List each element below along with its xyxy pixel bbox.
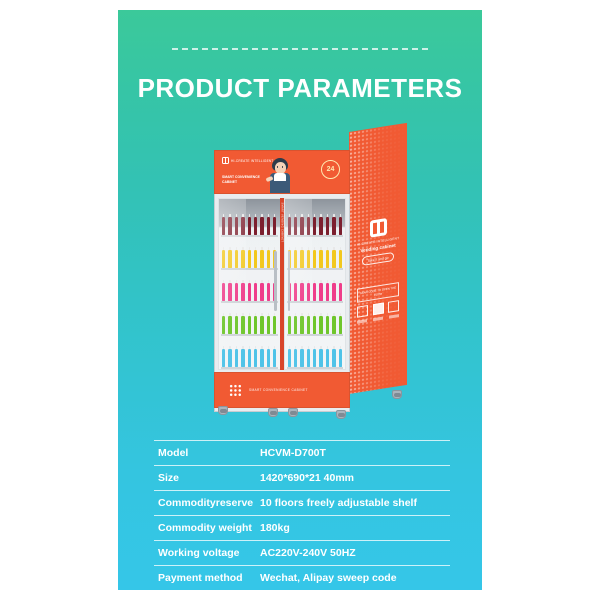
glass-door-right xyxy=(284,198,347,370)
glass-door-left xyxy=(218,198,281,370)
badge-24-hours: 24 xyxy=(321,160,340,179)
bottle xyxy=(332,283,335,301)
gradient-poster-panel: PRODUCT PARAMETERS HI-CREATE INTELLIGENT… xyxy=(118,10,482,590)
bottle xyxy=(228,217,231,235)
bottle-row xyxy=(222,213,277,235)
bottle xyxy=(222,217,225,235)
bottle xyxy=(307,250,310,268)
bottle xyxy=(300,349,303,367)
bottle xyxy=(307,217,310,235)
shelf-row xyxy=(221,277,278,303)
caster-wheel xyxy=(268,408,278,417)
shelf-row xyxy=(287,310,344,336)
center-strip-text: SMART VENDING CABINET xyxy=(281,203,284,225)
shelf-row xyxy=(287,343,344,369)
bottle xyxy=(273,349,276,367)
wechat-pay-icon xyxy=(373,302,384,315)
table-row: Model HCVM-D700T xyxy=(154,441,450,466)
bottle xyxy=(254,316,257,334)
shelf-row xyxy=(221,343,278,369)
center-divider-strip: SMART VENDING CABINET xyxy=(280,198,284,370)
bottle xyxy=(319,349,322,367)
door-handle-left[interactable] xyxy=(274,251,277,311)
shelf-row xyxy=(221,211,278,237)
bottle xyxy=(288,349,291,367)
bottle xyxy=(294,250,297,268)
bottle-row xyxy=(222,345,277,367)
cabinet-side-panel: HI-CREATE INTELLIGENT Vending cabinet Ta… xyxy=(349,123,407,394)
shelf-rail xyxy=(287,334,344,337)
bottle xyxy=(235,217,238,235)
bottle xyxy=(339,283,342,301)
bottle xyxy=(235,349,238,367)
bottle xyxy=(339,250,342,268)
bottle xyxy=(313,217,316,235)
bottle xyxy=(313,349,316,367)
spec-label: Commodityreserve xyxy=(154,497,260,509)
bottle xyxy=(339,316,342,334)
caster-wheel xyxy=(336,410,346,419)
page-title: PRODUCT PARAMETERS xyxy=(118,73,482,104)
side-panel-branding: HI-CREATE INTELLIGENT Vending cabinet Ta… xyxy=(353,215,403,267)
shelf-row xyxy=(287,244,344,270)
bottle xyxy=(241,316,244,334)
spec-value: Wechat, Alipay sweep code xyxy=(260,572,450,584)
mascot-shirt xyxy=(274,173,286,181)
shelf-rail xyxy=(287,367,344,370)
spec-value: HCVM-D700T xyxy=(260,447,450,459)
bottle xyxy=(254,217,257,235)
bottle xyxy=(326,283,329,301)
spec-label: Commodity weight xyxy=(154,522,260,534)
shelf-row xyxy=(287,277,344,303)
caster-wheel xyxy=(288,408,298,417)
bottle xyxy=(319,283,322,301)
shelf-row xyxy=(287,211,344,237)
side-payment-block: SCAN CODE TO OPEN THE DOOR xyxy=(357,282,399,323)
shelf-rail xyxy=(221,235,278,238)
bottle xyxy=(294,349,297,367)
bottle xyxy=(300,217,303,235)
bottle xyxy=(307,316,310,334)
shelf-rail xyxy=(221,268,278,271)
bottle xyxy=(300,316,303,334)
bottle xyxy=(313,316,316,334)
spec-value: 1420*690*21 40mm xyxy=(260,472,450,484)
spec-value: 180kg xyxy=(260,522,450,534)
bottle xyxy=(267,316,270,334)
shelf-rail xyxy=(287,235,344,238)
spec-label: Working voltage xyxy=(154,547,260,559)
bottle xyxy=(260,283,263,301)
spec-label: Payment method xyxy=(154,572,260,584)
bottle xyxy=(260,316,263,334)
bottle xyxy=(313,250,316,268)
shelf-rail xyxy=(287,301,344,304)
bottle xyxy=(248,283,251,301)
bottle xyxy=(248,316,251,334)
bottle xyxy=(267,250,270,268)
bottle xyxy=(222,250,225,268)
bottle xyxy=(228,250,231,268)
bottle xyxy=(300,250,303,268)
bottle xyxy=(300,283,303,301)
bottle xyxy=(326,250,329,268)
bottle-row xyxy=(288,246,343,268)
door-handle-right[interactable] xyxy=(288,251,291,311)
spec-value: 10 floors freely adjustable shelf xyxy=(260,497,450,509)
spec-label: Model xyxy=(154,447,260,459)
bottle xyxy=(294,217,297,235)
spec-value: AC220V-240V 50HZ xyxy=(260,547,450,559)
bottle xyxy=(288,316,291,334)
bottle xyxy=(294,283,297,301)
bottle xyxy=(241,250,244,268)
bottle xyxy=(254,250,257,268)
bottle xyxy=(254,349,257,367)
bottle xyxy=(267,217,270,235)
bottle xyxy=(260,349,263,367)
shelf-rail xyxy=(287,268,344,271)
caster-wheel xyxy=(392,390,402,399)
qr-code-icon xyxy=(357,305,368,318)
alipay-icon xyxy=(388,300,399,313)
bottle-row xyxy=(222,312,277,334)
bottle xyxy=(260,217,263,235)
table-row: Payment method Wechat, Alipay sweep code xyxy=(154,566,450,590)
base-dot-logo-icon xyxy=(229,384,242,397)
bottle-row xyxy=(288,213,343,235)
shelf-row xyxy=(221,310,278,336)
bottle xyxy=(241,349,244,367)
bottle xyxy=(332,349,335,367)
bottle xyxy=(222,316,225,334)
shelf-row xyxy=(221,244,278,270)
bottle xyxy=(332,316,335,334)
bottle-row xyxy=(288,312,343,334)
brand-logo-icon xyxy=(370,218,387,238)
brand-mark-icon xyxy=(222,157,229,164)
cabinet-header-banner: HI-CREATE INTELLIGENT SMART CONVENIENCE … xyxy=(214,150,350,194)
table-row: Working voltage AC220V-240V 50HZ xyxy=(154,541,450,566)
header-slogan: SMART CONVENIENCE CABINET xyxy=(222,175,262,186)
bottle xyxy=(228,349,231,367)
spec-label: Size xyxy=(154,472,260,484)
bottle-row xyxy=(222,279,277,301)
bottle xyxy=(326,316,329,334)
table-row: Commodityreserve 10 floors freely adjust… xyxy=(154,491,450,516)
bottle xyxy=(326,349,329,367)
spec-table: Model HCVM-D700T Size 1420*690*21 40mm C… xyxy=(154,440,450,590)
bottle xyxy=(241,217,244,235)
base-brand-text: SMART CONVENIENCE CABINET xyxy=(249,388,308,392)
cabinet-base-panel: SMART CONVENIENCE CABINET xyxy=(214,372,350,408)
bottle xyxy=(260,250,263,268)
bottle xyxy=(273,217,276,235)
table-row: Size 1420*690*21 40mm xyxy=(154,466,450,491)
bottle xyxy=(222,283,225,301)
bottle xyxy=(273,316,276,334)
bottle xyxy=(228,316,231,334)
bottle xyxy=(248,250,251,268)
bottle xyxy=(241,283,244,301)
product-image-vending-cabinet: HI-CREATE INTELLIGENT Vending cabinet Ta… xyxy=(196,132,416,432)
bottle xyxy=(254,283,257,301)
caster-wheel xyxy=(218,406,228,415)
bottle xyxy=(313,283,316,301)
shelf-rail xyxy=(221,367,278,370)
shelf-rail xyxy=(221,334,278,337)
poster-canvas: PRODUCT PARAMETERS HI-CREATE INTELLIGENT… xyxy=(0,0,600,600)
bottle xyxy=(267,349,270,367)
bottle xyxy=(319,217,322,235)
bottle-row xyxy=(222,246,277,268)
table-row: Commodity weight 180kg xyxy=(154,516,450,541)
bottle xyxy=(228,283,231,301)
bottle xyxy=(307,349,310,367)
bottle xyxy=(294,316,297,334)
title-dashed-divider xyxy=(172,48,428,50)
mascot-character-illustration xyxy=(265,158,295,194)
bottle xyxy=(222,349,225,367)
bottle xyxy=(248,349,251,367)
bottle xyxy=(288,217,291,235)
bottle-row xyxy=(288,279,343,301)
bottle xyxy=(339,217,342,235)
bottle xyxy=(332,250,335,268)
bottle xyxy=(248,217,251,235)
bottle xyxy=(235,250,238,268)
bottle xyxy=(332,217,335,235)
bottle xyxy=(235,316,238,334)
bottle xyxy=(339,349,342,367)
bottle xyxy=(326,217,329,235)
bottle xyxy=(235,283,238,301)
shelf-rail xyxy=(221,301,278,304)
bottle xyxy=(319,250,322,268)
bottle xyxy=(267,283,270,301)
bottle xyxy=(319,316,322,334)
bottle-row xyxy=(288,345,343,367)
bottle xyxy=(307,283,310,301)
